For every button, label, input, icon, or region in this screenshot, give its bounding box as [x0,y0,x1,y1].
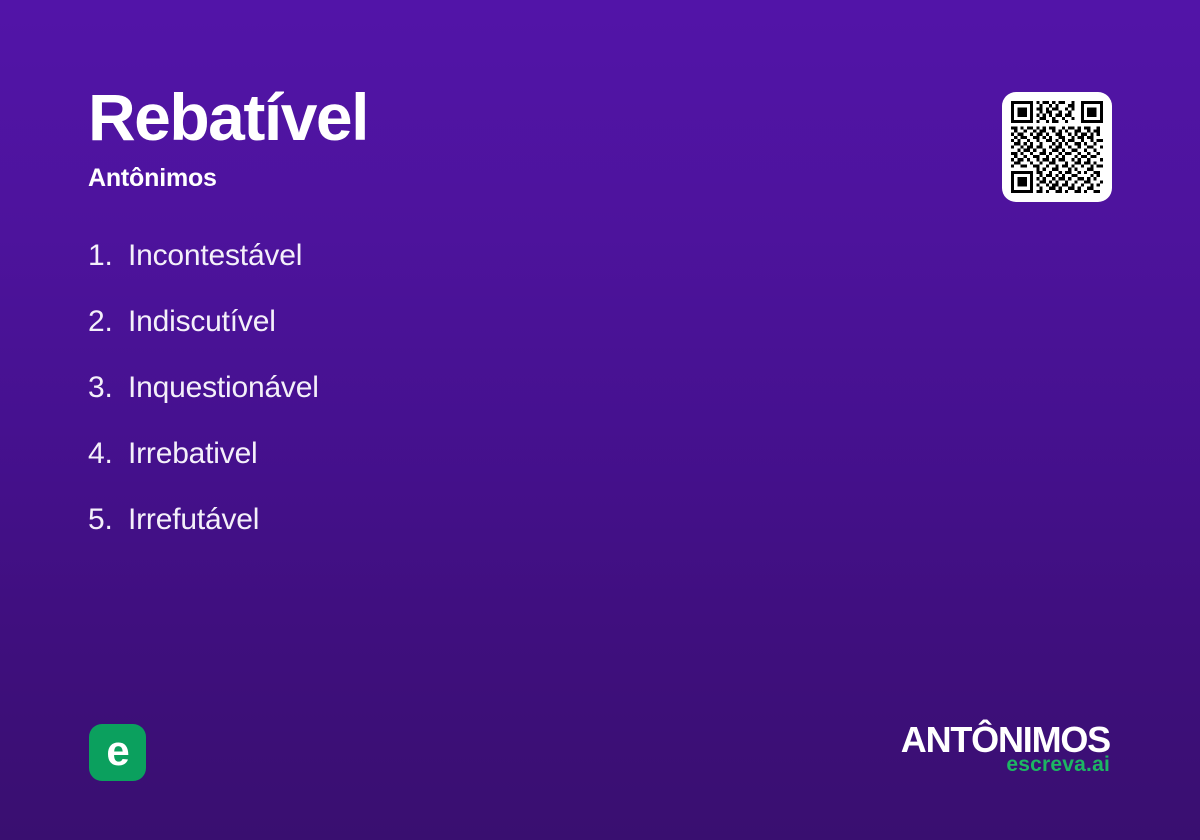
brand-mark-letter: e [106,730,128,772]
qr-code[interactable] [1002,92,1112,202]
list-item-word: Irrebativel [128,436,258,472]
list-item-word: Irrefutável [128,502,259,538]
list-item-word: Indiscutível [128,304,276,340]
page-title: Rebatível [88,84,368,150]
list-item-number: 2. [88,304,128,340]
list-item-word: Inquestionável [128,370,319,406]
list-item-number: 3. [88,370,128,406]
escreva-logo-icon: e [89,724,146,781]
list-item-number: 1. [88,238,128,274]
list-item-number: 5. [88,502,128,538]
footer-logo: ANTÔNIMOS escreva.ai [901,722,1110,775]
list-item-number: 4. [88,436,128,472]
list-item-word: Incontestável [128,238,302,274]
list-item: 3. Inquestionável [88,370,788,436]
qr-code-icon [1011,101,1103,193]
header: Rebatível Antônimos [88,84,368,193]
list-item: 4. Irrebativel [88,436,788,502]
page-subtitle: Antônimos [88,164,368,193]
word-card: Rebatível Antônimos [0,0,1200,840]
antonym-list: 1. Incontestável 2. Indiscutível 3. Inqu… [88,238,788,568]
list-item: 1. Incontestável [88,238,788,304]
list-item: 2. Indiscutível [88,304,788,370]
list-item: 5. Irrefutável [88,502,788,568]
